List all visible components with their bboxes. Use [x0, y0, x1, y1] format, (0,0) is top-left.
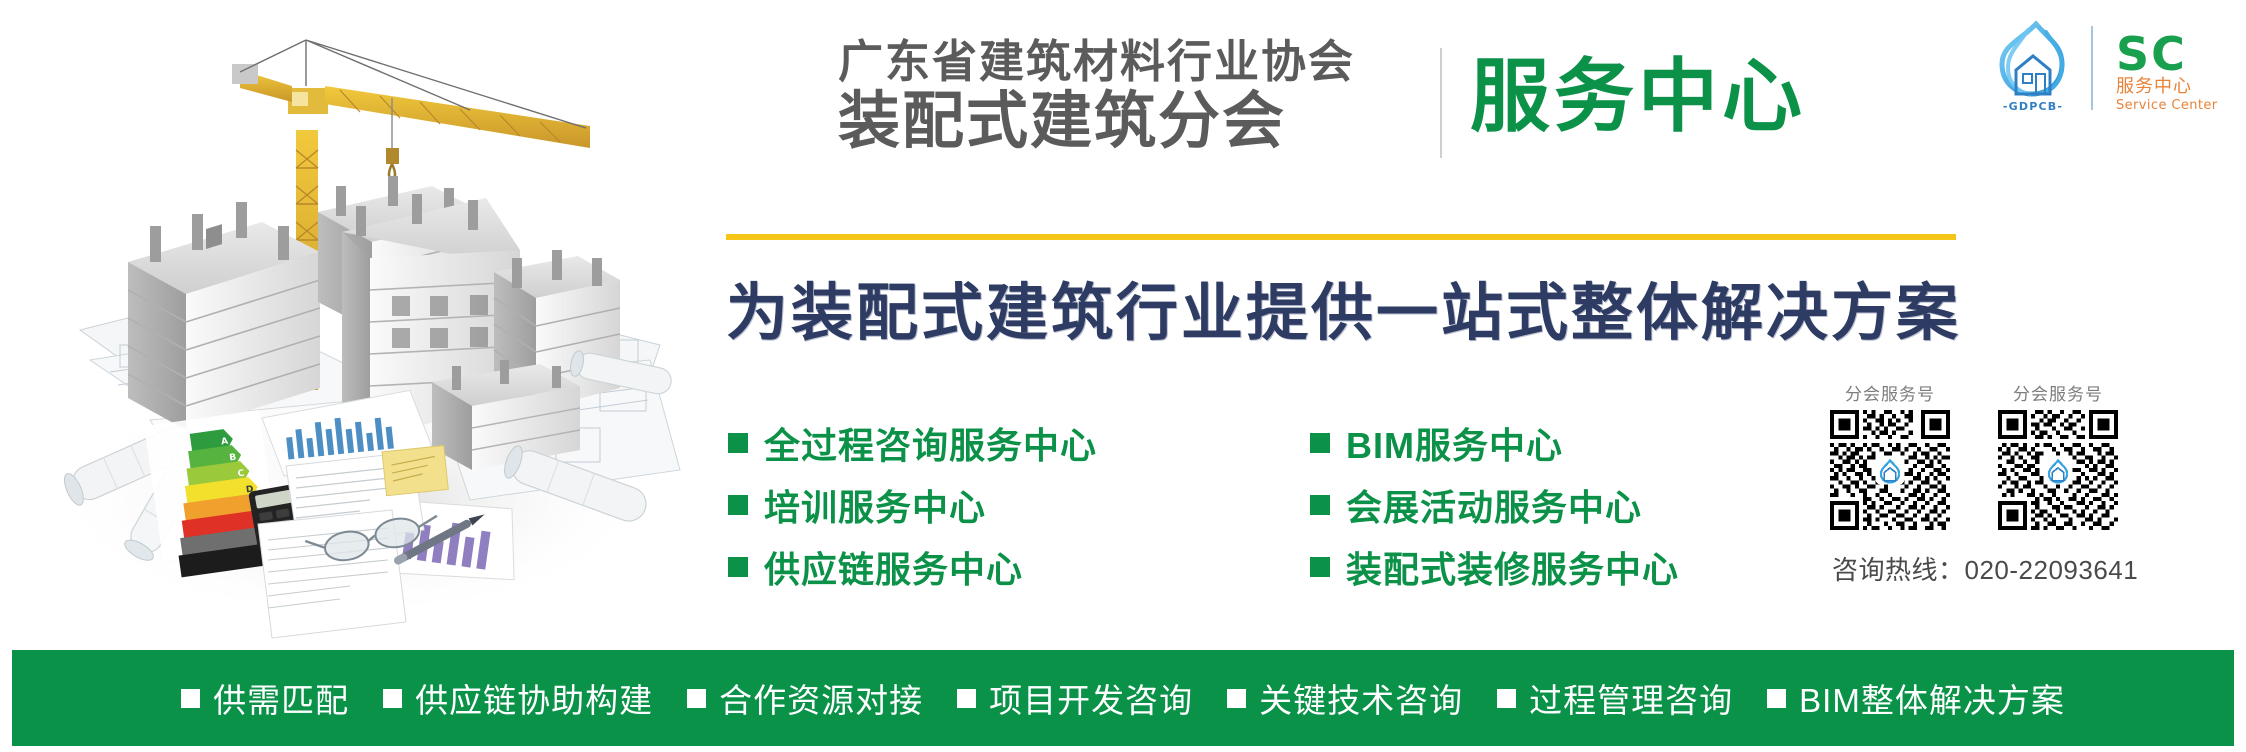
service-item-label: 会展活动服务中心 — [1346, 479, 1642, 531]
sc-mark: SC — [2116, 27, 2187, 81]
banner-root: ABC DE FGH — [0, 0, 2246, 752]
title-vertical-divider — [1440, 48, 1442, 158]
bar-item-label: 关键技术咨询 — [1259, 674, 1463, 722]
svg-text:A: A — [221, 437, 229, 448]
square-bullet-icon — [1227, 689, 1246, 708]
bar-item-label: 过程管理咨询 — [1529, 674, 1733, 722]
service-item[interactable]: 会展活动服务中心 — [1310, 474, 1679, 536]
hotline-text: 咨询热线：020-22093641 — [1830, 550, 2230, 587]
qr-code-1[interactable] — [1830, 410, 1950, 530]
sc-en-label: Service Center — [2116, 98, 2218, 113]
square-bullet-icon — [728, 557, 748, 577]
bar-item-label: 供需匹配 — [213, 674, 349, 722]
gdpcb-label: -GDPCB- — [2003, 100, 2063, 113]
service-item-label: 培训服务中心 — [764, 479, 986, 531]
sc-cn-label: 服务中心 — [2116, 76, 2192, 97]
association-title-block: 广东省建筑材料行业协会 装配式建筑分会 — [838, 38, 1438, 156]
sticky-note — [382, 446, 448, 496]
service-item[interactable]: BIM服务中心 — [1310, 412, 1679, 474]
qr-cell: 分会服务号 — [1830, 380, 1950, 530]
bar-item[interactable]: 关键技术咨询 — [1227, 674, 1463, 722]
square-bullet-icon — [383, 689, 402, 708]
qr-panel: 分会服务号 — [1830, 380, 2230, 587]
square-bullet-icon — [1310, 433, 1330, 453]
square-bullet-icon — [181, 689, 200, 708]
bar-item-label: 供应链协助构建 — [415, 674, 653, 722]
square-bullet-icon — [1310, 557, 1330, 577]
service-item-label: BIM服务中心 — [1346, 417, 1563, 469]
square-bullet-icon — [728, 433, 748, 453]
service-list-right: BIM服务中心 会展活动服务中心 装配式装修服务中心 — [1310, 412, 1679, 598]
service-item-label: 装配式装修服务中心 — [1346, 541, 1679, 593]
qr-code-2[interactable] — [1998, 410, 2118, 530]
service-item-label: 供应链服务中心 — [764, 541, 1023, 593]
bottom-services-bar: 供需匹配 供应链协助构建 合作资源对接 项目开发咨询 关键技术咨询 过程管理咨询… — [12, 650, 2234, 746]
service-item[interactable]: 培训服务中心 — [728, 474, 1097, 536]
hero-construction-illustration: ABC DE FGH — [0, 0, 700, 650]
bar-item-label: 项目开发咨询 — [989, 674, 1193, 722]
service-center-title: 服务中心 — [1470, 50, 1806, 144]
bar-item[interactable]: 供需匹配 — [181, 674, 349, 722]
association-name-line2: 装配式建筑分会 — [838, 89, 1438, 156]
tagline: 为装配式建筑行业提供一站式整体解决方案 — [726, 262, 1961, 352]
bar-item[interactable]: BIM整体解决方案 — [1767, 674, 2065, 722]
qr-caption: 分会服务号 — [1998, 380, 2118, 405]
bar-item[interactable]: 合作资源对接 — [687, 674, 923, 722]
square-bullet-icon — [1497, 689, 1516, 708]
gdpcb-mark-icon — [2002, 24, 2062, 94]
qr-row: 分会服务号 — [1830, 380, 2230, 530]
bar-item-label: 合作资源对接 — [719, 674, 923, 722]
yellow-divider-rule — [726, 234, 1956, 240]
service-item-label: 全过程咨询服务中心 — [764, 417, 1097, 469]
bar-item[interactable]: 供应链协助构建 — [383, 674, 653, 722]
square-bullet-icon — [1767, 689, 1786, 708]
bar-item[interactable]: 项目开发咨询 — [957, 674, 1193, 722]
bar-item-label: BIM整体解决方案 — [1799, 674, 2065, 722]
service-item[interactable]: 装配式装修服务中心 — [1310, 536, 1679, 598]
bar-item[interactable]: 过程管理咨询 — [1497, 674, 1733, 722]
square-bullet-icon — [687, 689, 706, 708]
square-bullet-icon — [728, 495, 748, 515]
association-name-line1: 广东省建筑材料行业协会 — [838, 38, 1438, 87]
square-bullet-icon — [1310, 495, 1330, 515]
service-item[interactable]: 全过程咨询服务中心 — [728, 412, 1097, 474]
square-bullet-icon — [957, 689, 976, 708]
qr-cell: 分会服务号 — [1998, 380, 2118, 530]
service-list-left: 全过程咨询服务中心 培训服务中心 供应链服务中心 — [728, 412, 1097, 598]
service-item[interactable]: 供应链服务中心 — [728, 536, 1097, 598]
qr-caption: 分会服务号 — [1830, 380, 1950, 405]
brand-logo: -GDPCB- SC 服务中心 Service Center — [1988, 14, 2238, 118]
